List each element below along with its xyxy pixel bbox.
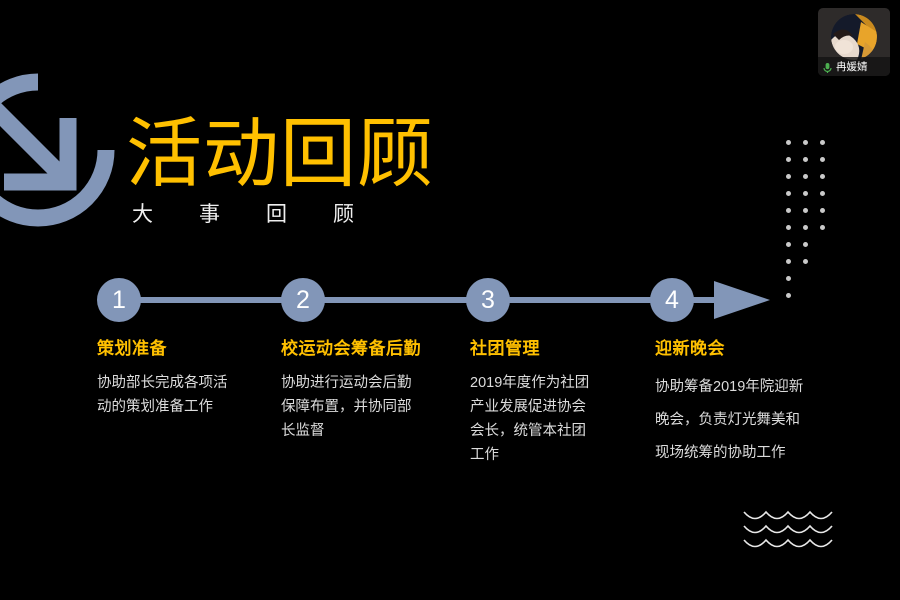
timeline-node-3[interactable]: 3 xyxy=(466,278,510,322)
timeline-track: 1 2 3 4 xyxy=(0,270,900,332)
heading-block: 活动回顾 大事回顾 xyxy=(126,112,766,228)
step-description: 协助部长完成各项活动的策划准备工作 xyxy=(97,371,234,419)
wave-lines-icon xyxy=(742,508,838,552)
step-description: 2019年度作为社团产业发展促进协会会长，统管本社团工作 xyxy=(470,371,594,467)
microphone-icon[interactable] xyxy=(822,61,833,73)
timeline-step-3: 社团管理 2019年度作为社团产业发展促进协会会长，统管本社团工作 xyxy=(470,338,630,467)
participant-name: 冉媛婧 xyxy=(836,61,868,73)
step-description: 协助筹备2019年院迎新晚会，负责灯光舞美和现场统筹的协助工作 xyxy=(655,371,807,470)
video-participant-tile[interactable]: 冉媛婧 xyxy=(818,8,890,76)
step-title: 策划准备 xyxy=(97,338,247,360)
participant-nameplate: 冉媛婧 xyxy=(818,57,890,76)
timeline-step-1: 策划准备 协助部长完成各项活动的策划准备工作 xyxy=(97,338,247,419)
timeline-step-4: 迎新晚会 协助筹备2019年院迎新晚会，负责灯光舞美和现场统筹的协助工作 xyxy=(655,338,830,470)
step-description: 协助进行运动会后勤保障布置，并协同部长监督 xyxy=(281,371,413,443)
step-title: 社团管理 xyxy=(470,338,630,360)
timeline-arrow-icon xyxy=(714,281,770,319)
timeline-step-2: 校运动会筹备后勤 协助进行运动会后勤保障布置，并协同部长监督 xyxy=(281,338,451,443)
circle-arrow-down-right-icon xyxy=(0,70,118,230)
timeline-node-2[interactable]: 2 xyxy=(281,278,325,322)
timeline-node-4[interactable]: 4 xyxy=(650,278,694,322)
step-title: 校运动会筹备后勤 xyxy=(281,338,451,360)
step-title: 迎新晚会 xyxy=(655,338,830,360)
presentation-slide: 活动回顾 大事回顾 1 2 xyxy=(0,0,900,600)
page-title: 活动回顾 xyxy=(126,112,766,198)
page-subtitle: 大事回顾 xyxy=(132,202,766,228)
timeline-node-1[interactable]: 1 xyxy=(97,278,141,322)
avatar xyxy=(831,14,877,60)
